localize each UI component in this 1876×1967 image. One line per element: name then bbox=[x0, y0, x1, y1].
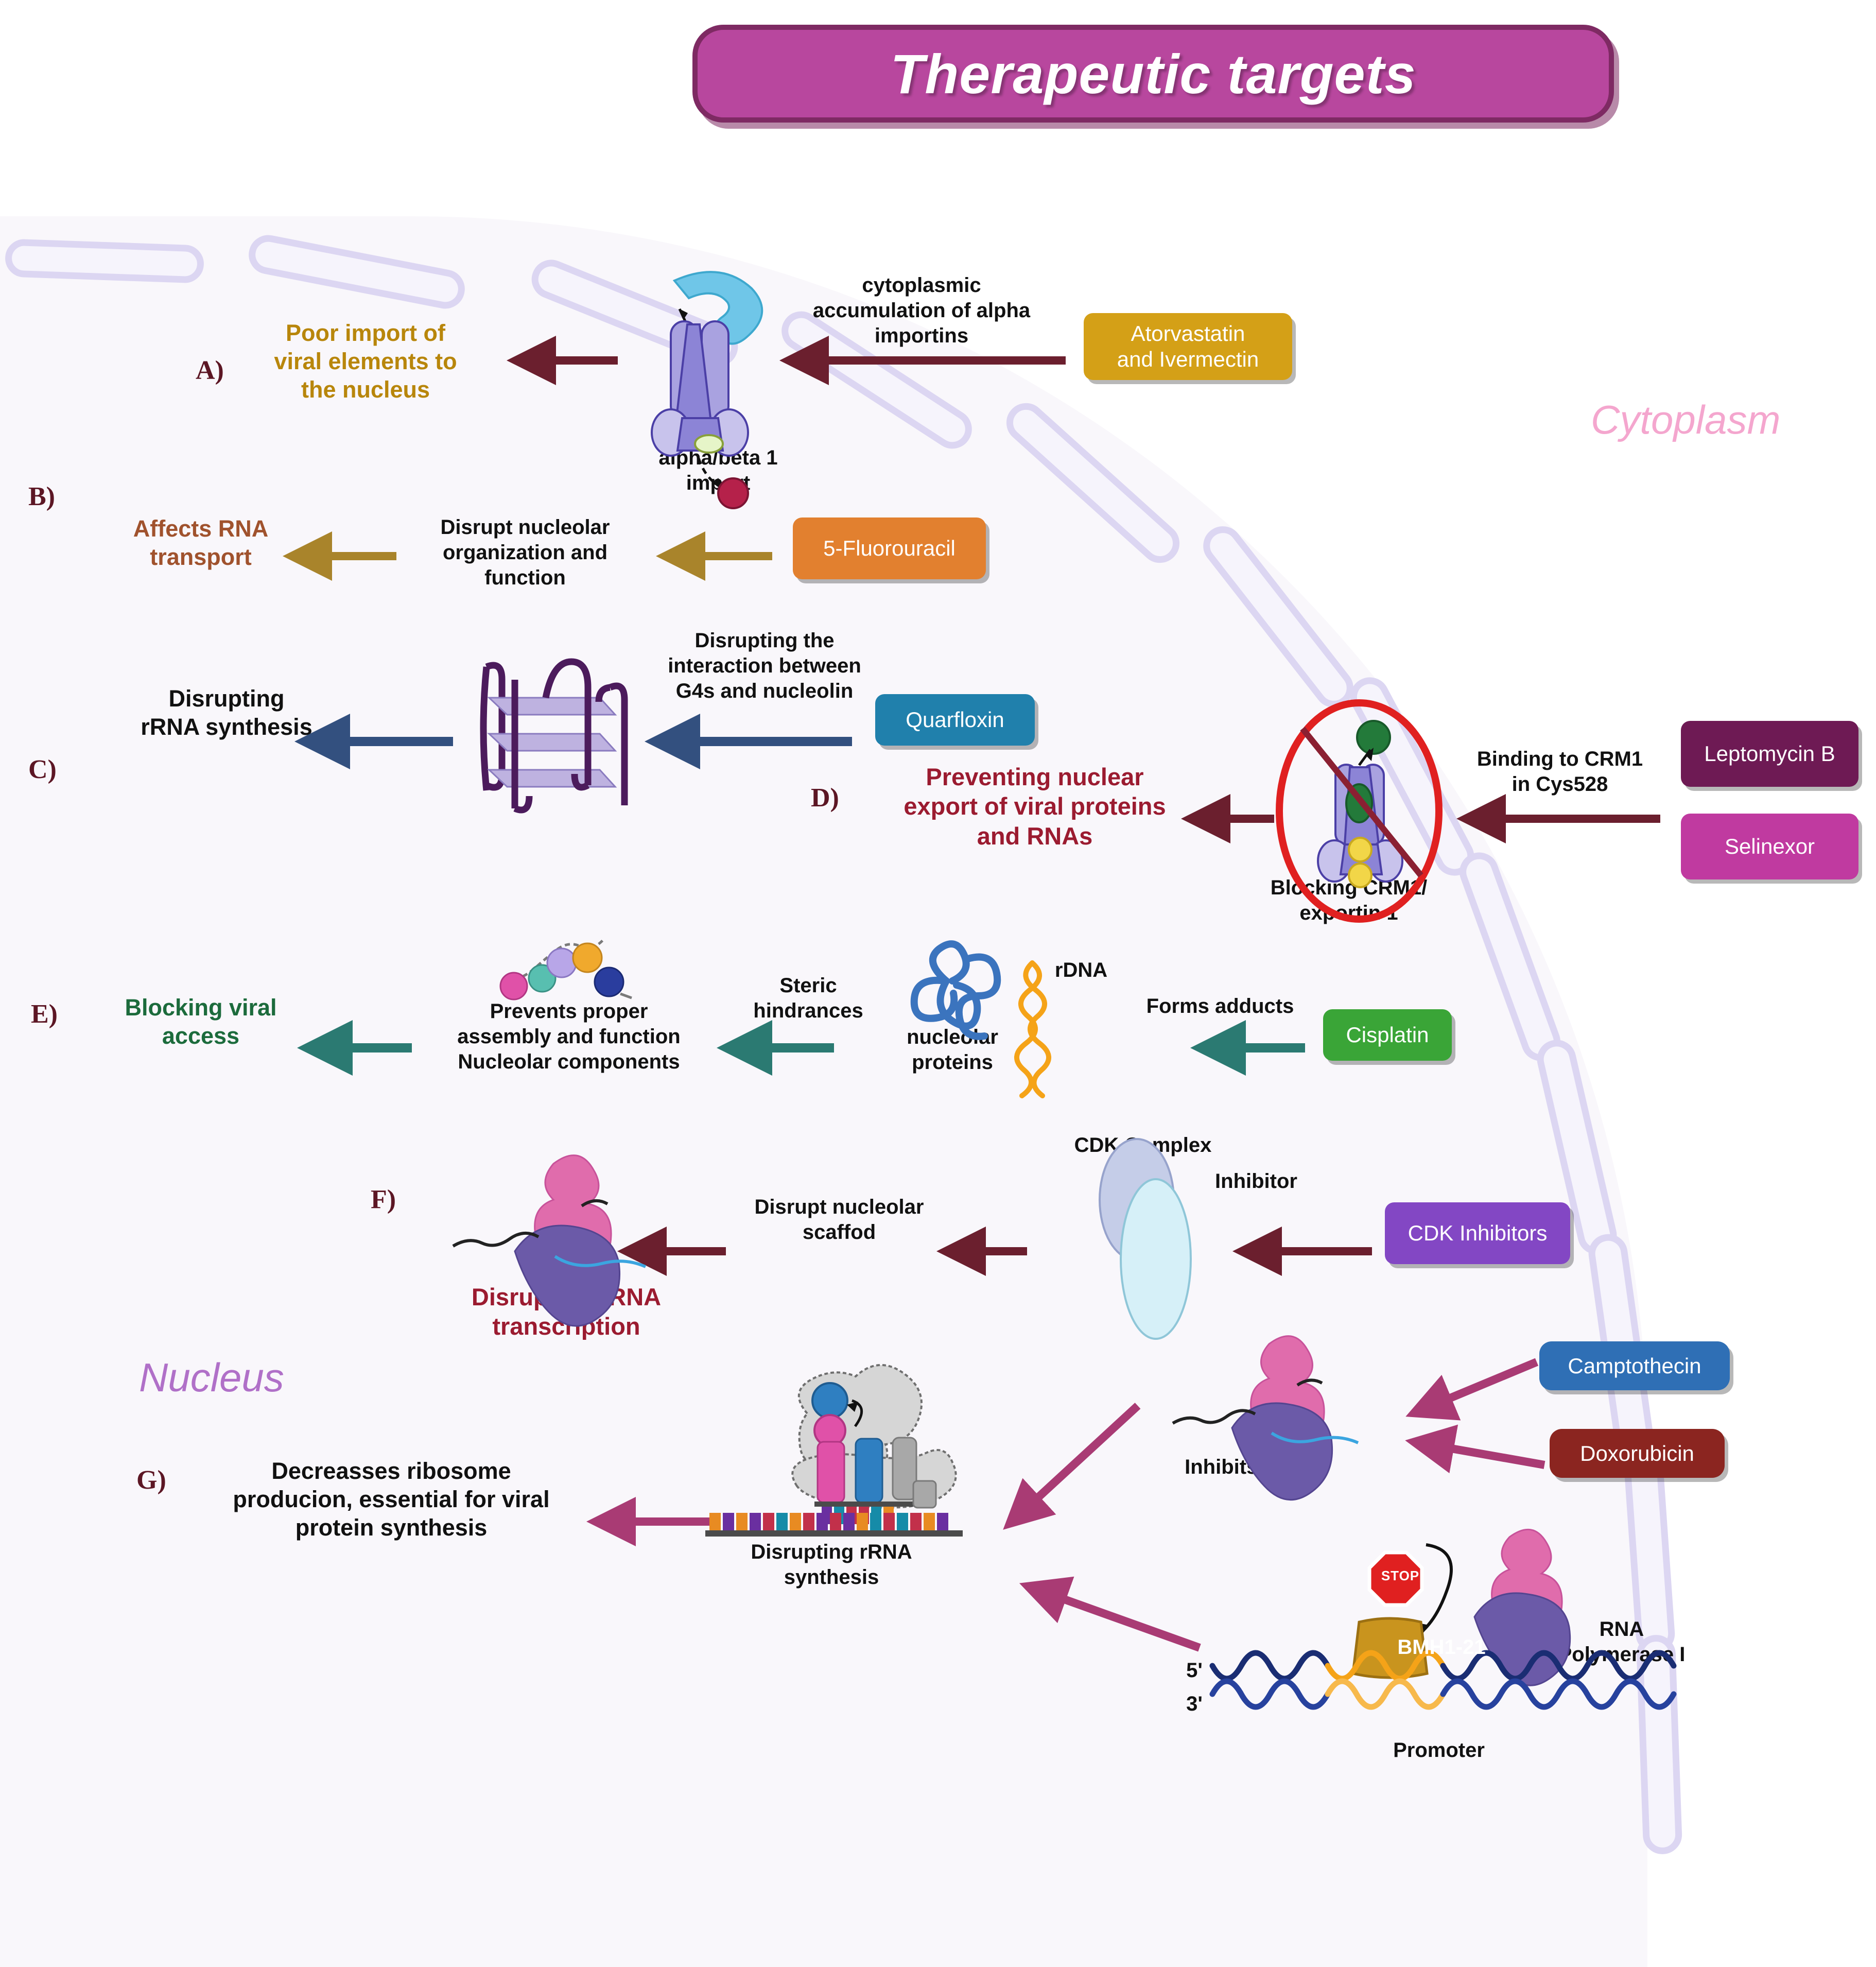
section-f-mechanism: Disrupt nucleolar scaffod bbox=[736, 1195, 942, 1245]
section-g-label-inhibits-pol1: Inhibits Pol I bbox=[1148, 1455, 1344, 1480]
section-b-mechanism: Disrupt nucleolar organization and funct… bbox=[417, 515, 633, 590]
drug-box-atorvastatin-ivermectin[interactable]: Atorvastatin and Ivermectin bbox=[1084, 313, 1292, 380]
nuclear-pore-segment bbox=[1636, 1634, 1683, 1855]
section-label-d: D) bbox=[811, 783, 839, 813]
section-e-outcome: Blocking viral access bbox=[103, 994, 299, 1050]
promoter-label: Promoter bbox=[1362, 1738, 1516, 1763]
section-label-e: E) bbox=[31, 999, 58, 1029]
section-label-f: F) bbox=[371, 1184, 396, 1215]
section-c-outcome: Disrupting rRNA synthesis bbox=[118, 685, 335, 741]
section-label-b: B) bbox=[28, 481, 55, 512]
drug-box-5-fluorouracil[interactable]: 5-Fluorouracil bbox=[793, 517, 986, 579]
drug-box-selinexor[interactable]: Selinexor bbox=[1681, 814, 1858, 879]
drug-box-cdk-inhibitors[interactable]: CDK Inhibitors bbox=[1385, 1202, 1570, 1264]
section-a-outcome: Poor import of viral elements to the nuc… bbox=[257, 319, 474, 404]
section-f-outcome: Disrupting rRNA transcription bbox=[438, 1282, 695, 1341]
section-e-label-rdna: rDNA bbox=[1035, 958, 1127, 983]
rna-polymerase-label: RNA Polymerase I bbox=[1544, 1617, 1699, 1667]
section-d-mechanism: Binding to CRM1 in Cys528 bbox=[1457, 747, 1663, 797]
section-e-label-nucleolar-proteins: nucleolar proteins bbox=[875, 1025, 1030, 1075]
section-label-a: A) bbox=[196, 355, 224, 386]
section-a-mechanism: cytoplasmic accumulation of alpha import… bbox=[803, 273, 1040, 348]
five-prime-label: 5' bbox=[1179, 1658, 1210, 1683]
section-label-g: G) bbox=[136, 1465, 166, 1495]
three-prime-label: 3' bbox=[1179, 1692, 1210, 1717]
drug-box-leptomycin-b[interactable]: Leptomycin B bbox=[1681, 721, 1858, 787]
nucleus-body bbox=[0, 216, 1647, 1967]
drug-box-cisplatin[interactable]: Cisplatin bbox=[1323, 1009, 1452, 1061]
nuclear-pore-segment bbox=[5, 238, 204, 283]
diagram-canvas: Therapeutic targets Cytoplasm Nucleus A)… bbox=[0, 0, 1876, 1811]
drug-box-doxorubicin[interactable]: Doxorubicin bbox=[1550, 1429, 1725, 1478]
stop-sign-label: STOP bbox=[1367, 1568, 1434, 1584]
bmh1-21-label: BMH1-21 bbox=[1364, 1635, 1519, 1660]
diagram-title-banner: Therapeutic targets bbox=[692, 25, 1614, 123]
section-a-structure-label: alpha/beta 1 import bbox=[633, 445, 803, 496]
section-g-outcome: Decreasses ribosome producion, essential… bbox=[211, 1457, 571, 1542]
section-d-outcome: Preventing nuclear export of viral prote… bbox=[855, 762, 1215, 851]
section-f-label-inhibitor: Inhibitor bbox=[1179, 1169, 1333, 1194]
page-title: Therapeutic targets bbox=[890, 42, 1416, 106]
section-f-label-cdk-complex: CDK Complex bbox=[1040, 1133, 1246, 1158]
section-b-outcome: Affects RNA transport bbox=[98, 515, 304, 572]
section-e-mechanism-assembly: Prevents proper assembly and function Nu… bbox=[443, 999, 695, 1074]
drug-box-quarfloxin[interactable]: Quarfloxin bbox=[875, 694, 1035, 746]
cytoplasm-label: Cytoplasm bbox=[1591, 396, 1780, 443]
section-e-mechanism-steric: Steric hindrances bbox=[736, 973, 880, 1024]
section-c-mechanism: Disrupting the interaction between G4s a… bbox=[644, 628, 885, 703]
section-d-structure-label: Blocking CRM1/ exportin 1 bbox=[1241, 875, 1457, 926]
section-g-label-disrupting-rrna: Disrupting rRNA synthesis bbox=[736, 1540, 927, 1590]
section-label-c: C) bbox=[28, 754, 57, 785]
section-e-mechanism-adducts: Forms adducts bbox=[1127, 994, 1313, 1019]
nucleus-label: Nucleus bbox=[139, 1354, 284, 1401]
drug-box-camptothecin[interactable]: Camptothecin bbox=[1539, 1341, 1730, 1390]
